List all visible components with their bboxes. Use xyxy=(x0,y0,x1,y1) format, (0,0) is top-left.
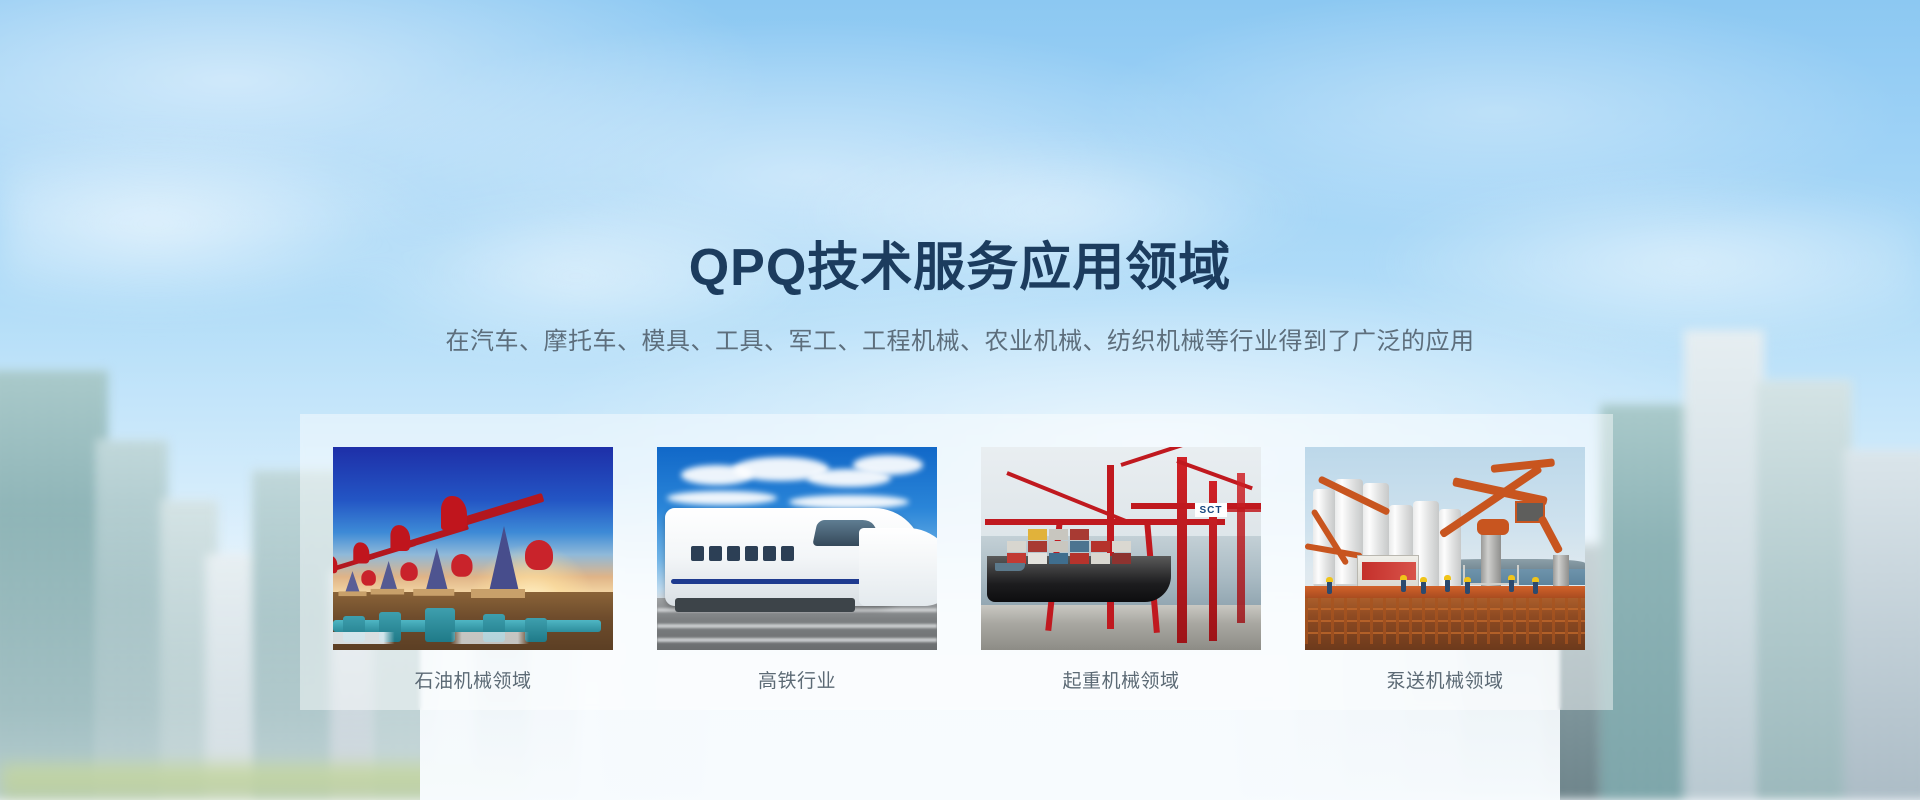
application-card[interactable]: SCT 起重机械领域 xyxy=(981,447,1261,691)
page-subtitle: 在汽车、摩托车、模具、工具、军工、工程机械、农业机械、纺织机械等行业得到了广泛的… xyxy=(0,330,1920,354)
concrete-pump-machinery-photo[interactable] xyxy=(1305,447,1585,650)
card-label: 高铁行业 xyxy=(657,672,937,691)
card-label: 石油机械领域 xyxy=(333,672,613,691)
port-container-cranes-photo[interactable]: SCT xyxy=(981,447,1261,650)
high-speed-train-photo[interactable] xyxy=(657,447,937,650)
card-label: 泵送机械领域 xyxy=(1305,672,1585,691)
applications-panel: 石油机械领域 xyxy=(300,414,1613,710)
application-card[interactable]: 石油机械领域 xyxy=(333,447,613,691)
page-title: QPQ技术服务应用领域 xyxy=(0,242,1920,294)
tugboat xyxy=(995,563,1025,571)
card-label: 起重机械领域 xyxy=(981,672,1261,691)
application-card[interactable]: 泵送机械领域 xyxy=(1305,447,1585,691)
oil-pumpjacks-sunset-photo[interactable] xyxy=(333,447,613,650)
application-card[interactable]: 高铁行业 xyxy=(657,447,937,691)
application-card-list: 石油机械领域 xyxy=(300,414,1613,710)
crane-badge: SCT xyxy=(1195,503,1227,517)
